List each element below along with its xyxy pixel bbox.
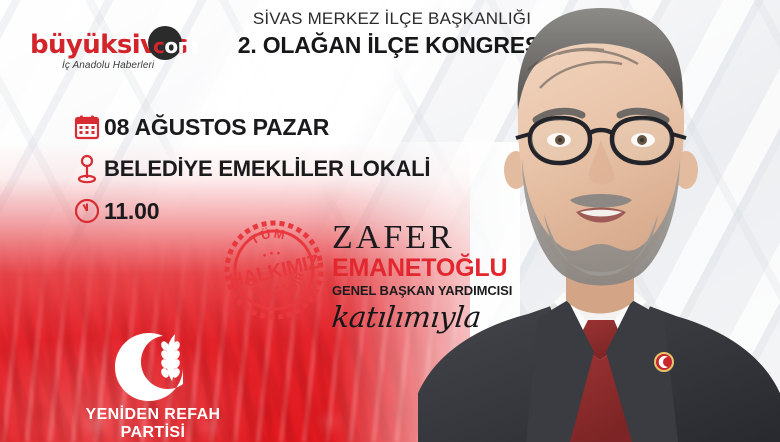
party-name-line1: YENİDEN REFAH [78,406,228,424]
clock-icon [70,198,104,224]
location-pin-icon [70,154,104,184]
event-details: 08 AĞUSTOS PAZAR BELEDİYE EMEKLİLER LOKA… [70,108,430,234]
crescent-wheat-emblem [105,330,201,404]
logo-subtitle: İç Anadolu Haberleri [62,60,154,71]
stamp-main-text: HALKIMIZ [227,251,321,293]
party-logo: YENİDEN REFAH PARTİSİ [78,330,228,441]
logo-word-com: com [153,34,198,58]
event-venue-text: BELEDİYE EMEKLİLER LOKALİ [104,156,430,182]
event-date-text: 08 AĞUSTOS PAZAR [104,114,329,141]
event-time-text: 11.00 [104,198,159,225]
invitation-stamp: TÜM DAVETLİDİR HALKIMIZ [215,211,334,330]
logo-letters-om: om [164,34,198,58]
logo-letter-c: c [153,34,164,58]
site-logo[interactable]: büyüksivas com İç Anadolu Haberleri [30,32,210,78]
party-name-line2: PARTİSİ [78,424,228,442]
event-venue-row: BELEDİYE EMEKLİLER LOKALİ [70,150,430,188]
event-poster: büyüksivas com İç Anadolu Haberleri SİVA… [0,0,780,442]
calendar-icon [70,114,104,140]
event-date-row: 08 AĞUSTOS PAZAR [70,108,430,146]
speaker-portrait [418,0,780,442]
